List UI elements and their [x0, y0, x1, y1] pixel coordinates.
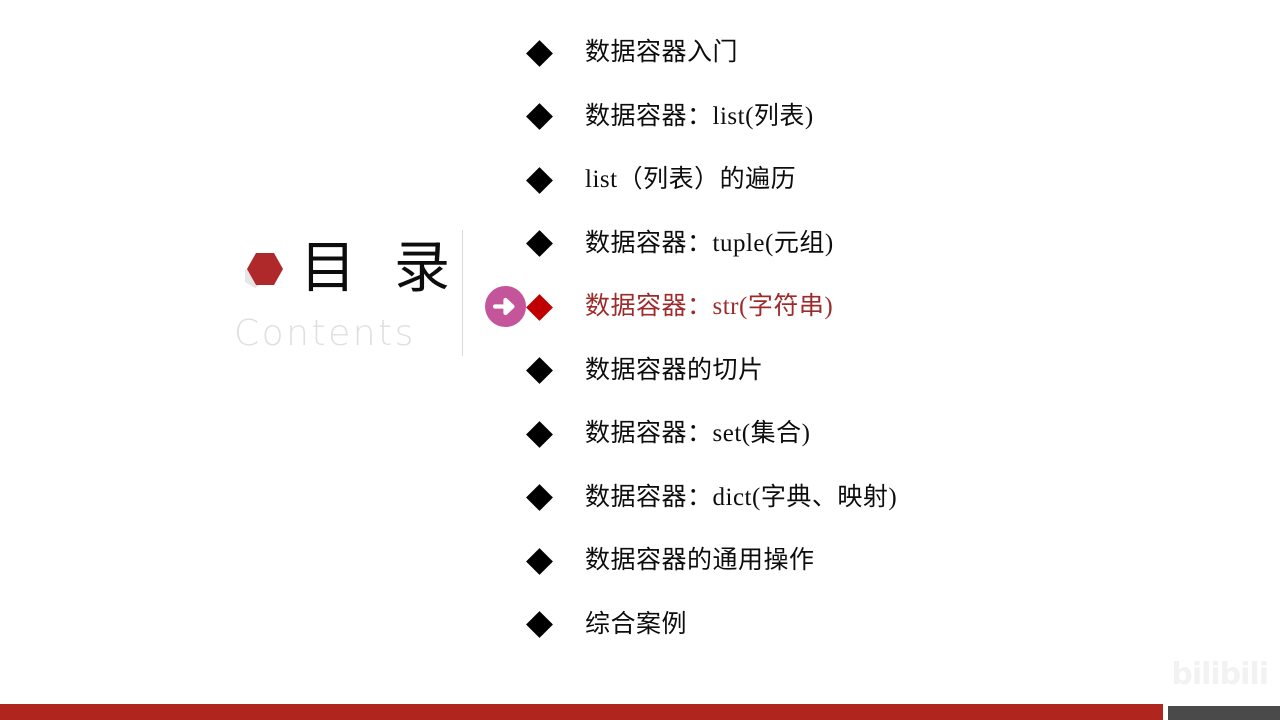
agenda-item-label: 数据容器的切片 [585, 356, 764, 386]
agenda-item[interactable]: 综合案例 [530, 605, 687, 645]
agenda-item[interactable]: 数据容器：dict(字典、映射) [530, 478, 897, 518]
agenda-item-label: 数据容器：str(字符串) [585, 292, 833, 322]
agenda-item[interactable]: 数据容器：list(列表) [530, 97, 814, 137]
agenda-item[interactable]: 数据容器：set(集合) [530, 414, 810, 454]
agenda-item[interactable]: 数据容器：tuple(元组) [530, 224, 834, 264]
diamond-bullet-icon [526, 167, 553, 194]
diamond-bullet-icon [526, 548, 553, 575]
diamond-bullet-icon [526, 357, 553, 384]
agenda-item-label: 数据容器：tuple(元组) [585, 229, 834, 259]
diamond-bullet-icon [526, 40, 553, 67]
diamond-bullet-icon [526, 103, 553, 130]
diamond-bullet-icon [526, 294, 553, 321]
agenda-item-label: 综合案例 [585, 610, 687, 640]
arrow-right-circle-icon [485, 286, 526, 327]
footer-bar-secondary [1168, 706, 1280, 720]
agenda-item-label: 数据容器：set(集合) [585, 419, 810, 449]
agenda-item-label: list（列表）的遍历 [585, 165, 796, 195]
diamond-bullet-icon [526, 230, 553, 257]
agenda-item[interactable]: 数据容器入门 [530, 33, 738, 73]
agenda-item-label: 数据容器入门 [585, 38, 738, 68]
agenda-item-label: 数据容器：dict(字典、映射) [585, 483, 897, 513]
diamond-bullet-icon [526, 484, 553, 511]
agenda-item[interactable]: list（列表）的遍历 [530, 160, 796, 200]
agenda-item[interactable]: 数据容器的通用操作 [530, 541, 815, 581]
diamond-bullet-icon [526, 611, 553, 638]
agenda-list: 数据容器入门数据容器：list(列表)list（列表）的遍历数据容器：tuple… [0, 0, 1280, 660]
footer-bar-primary [0, 704, 1163, 720]
agenda-item-label: 数据容器：list(列表) [585, 102, 814, 132]
agenda-item[interactable]: 数据容器的切片 [530, 351, 764, 391]
agenda-item-label: 数据容器的通用操作 [585, 546, 815, 576]
agenda-item[interactable]: 数据容器：str(字符串) [530, 287, 833, 327]
bilibili-watermark: bilibili [1171, 657, 1268, 692]
diamond-bullet-icon [526, 421, 553, 448]
